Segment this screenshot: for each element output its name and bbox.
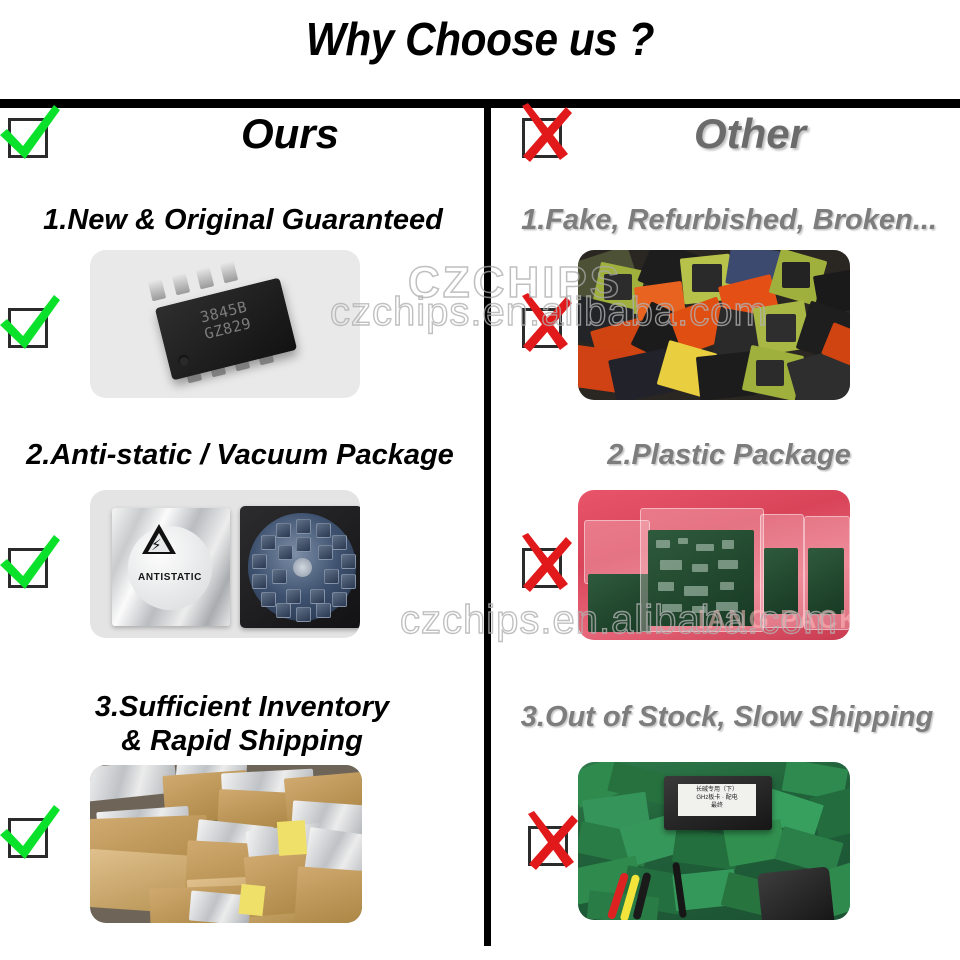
row-2-right-label: 2.Plastic Package — [500, 438, 958, 472]
row-2-right-image: IANG PACK — [578, 490, 850, 640]
page-title: Why Choose us ? — [38, 12, 921, 66]
check-glyph — [0, 532, 64, 594]
check-glyph — [0, 802, 64, 864]
check-glyph — [0, 102, 64, 164]
row-3-left-label-line2: & Rapid Shipping — [10, 724, 474, 758]
row-3-right-label: 3.Out of Stock, Slow Shipping — [496, 700, 958, 734]
antistatic-label: ANTISTATIC — [112, 572, 228, 583]
row-1-right-image — [578, 250, 850, 400]
row-1-left-label: 1.New & Original Guaranteed — [12, 203, 474, 237]
comparison-infographic: Why Choose us ? Ours Other 1.New & Origi… — [0, 0, 960, 960]
row-2-cross-icon — [522, 548, 562, 588]
column-header-other: Other — [560, 110, 940, 158]
row-1-right-label: 1.Fake, Refurbished, Broken... — [500, 203, 958, 237]
main-pcb — [648, 530, 754, 626]
module-label: 长碱专用（下） GHz板卡 · 配电 最终 — [678, 784, 756, 816]
row-2-check-icon — [8, 548, 48, 588]
row-3-cross-icon — [528, 826, 568, 866]
check-glyph — [0, 292, 64, 354]
cross-glyph — [510, 532, 578, 594]
black-pad — [757, 866, 835, 920]
vertical-divider — [484, 108, 491, 946]
antistatic-bag: ⚡ ANTISTATIC — [112, 508, 230, 626]
row-2-left-image: ⚡ ANTISTATIC — [90, 490, 360, 638]
component-tray — [240, 506, 360, 628]
row-1-cross-icon — [522, 308, 562, 348]
row-3-left-label-line1: 3.Sufficient Inventory — [10, 690, 474, 724]
horizontal-divider — [0, 99, 960, 108]
row-3-left-image — [90, 765, 362, 923]
component-reel — [248, 513, 356, 621]
header-check-icon — [8, 118, 48, 158]
header-cross-icon — [522, 118, 562, 158]
cross-glyph — [510, 292, 578, 354]
row-3-right-image: 长碱专用（下） GHz板卡 · 配电 最终 — [578, 762, 850, 920]
row-1-check-icon — [8, 308, 48, 348]
row-2-left-label: 2.Anti-static / Vacuum Package — [6, 438, 474, 472]
lightning-bolt-icon: ⚡ — [151, 538, 162, 553]
row-1-left-image: 3845B GZ829 — [90, 250, 360, 398]
black-module: 长碱专用（下） GHz板卡 · 配电 最终 — [664, 776, 772, 830]
cross-glyph — [516, 810, 584, 872]
row-3-left-label: 3.Sufficient Inventory & Rapid Shipping — [10, 690, 474, 758]
column-header-ours: Ours — [100, 110, 480, 158]
row-3-check-icon — [8, 818, 48, 858]
